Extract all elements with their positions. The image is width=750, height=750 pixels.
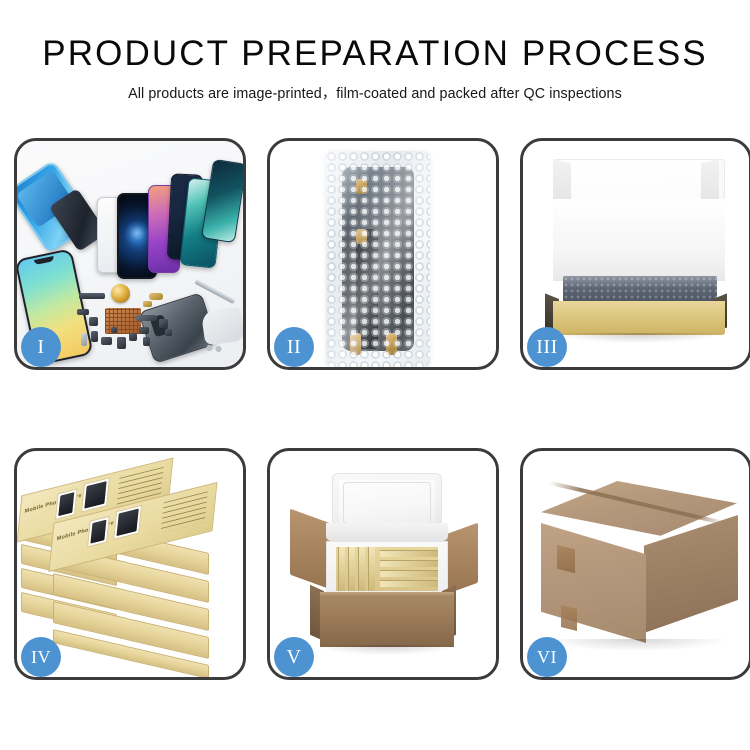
foam-face bbox=[553, 199, 725, 281]
box-window-screen bbox=[90, 520, 106, 544]
step-badge-3: III bbox=[527, 327, 567, 367]
chip-part bbox=[143, 337, 150, 346]
step-badge-6: VI bbox=[527, 637, 567, 677]
chip-part bbox=[129, 333, 137, 341]
header: PRODUCT PREPARATION PROCESS All products… bbox=[0, 0, 750, 103]
process-step-5[interactable]: V bbox=[267, 448, 499, 680]
ribbon-bar-part bbox=[79, 293, 105, 299]
page-title: PRODUCT PREPARATION PROCESS bbox=[0, 36, 750, 73]
process-step-2[interactable]: II bbox=[267, 138, 499, 370]
box-window-screen bbox=[58, 492, 74, 516]
gold-connector bbox=[386, 333, 397, 355]
packed-box-slat bbox=[348, 547, 355, 591]
chip-part bbox=[135, 315, 157, 321]
chip-part bbox=[81, 333, 87, 346]
packed-box-slat bbox=[380, 550, 438, 557]
chip-part bbox=[91, 331, 98, 342]
chip-part bbox=[159, 319, 168, 328]
styrofoam-lid-skirt bbox=[326, 523, 448, 541]
process-step-6[interactable]: VI bbox=[520, 448, 750, 680]
carton-body-front bbox=[320, 595, 454, 647]
packed-boxes bbox=[336, 547, 438, 591]
carton-rim bbox=[320, 592, 454, 597]
chip-part bbox=[165, 329, 172, 336]
page-subtitle: All products are image-printed，film-coat… bbox=[0, 82, 750, 103]
packed-box-slat bbox=[380, 570, 438, 577]
packed-box-slat bbox=[358, 547, 365, 591]
process-step-4[interactable]: Mobile Phone Spare Parts Mobile Phone Sp… bbox=[14, 448, 246, 680]
hand-holding-tool bbox=[201, 306, 243, 345]
process-step-grid: I II bbox=[14, 138, 736, 680]
process-step-3[interactable]: III bbox=[520, 138, 750, 370]
bubble-wrap-bag bbox=[326, 151, 430, 367]
wrapped-display-assembly bbox=[342, 167, 414, 351]
carton-tape-mark bbox=[557, 545, 575, 573]
drop-shadow bbox=[318, 645, 456, 655]
box-window-screen bbox=[84, 481, 106, 509]
box-window bbox=[87, 516, 110, 548]
teal-edge-phone bbox=[201, 159, 243, 243]
box-window-screen bbox=[116, 509, 138, 537]
drop-shadow bbox=[547, 639, 727, 651]
step-badge-2: II bbox=[274, 327, 314, 367]
step-badge-4: IV bbox=[21, 637, 61, 677]
process-step-1[interactable]: I bbox=[14, 138, 246, 370]
chip-part bbox=[101, 337, 112, 345]
gold-connector bbox=[356, 179, 367, 194]
speaker-coil-part bbox=[111, 284, 130, 303]
box-window bbox=[55, 488, 78, 520]
gold-connector bbox=[356, 229, 367, 244]
step-badge-1: I bbox=[21, 327, 61, 367]
step-badge-5: V bbox=[274, 637, 314, 677]
chip-part bbox=[149, 293, 163, 300]
box-window bbox=[113, 505, 142, 540]
drop-shadow bbox=[557, 333, 721, 343]
carton-tape-mark bbox=[561, 605, 577, 631]
packed-box-slat bbox=[380, 560, 438, 567]
kraft-box-front bbox=[553, 301, 725, 335]
chip-part bbox=[111, 327, 117, 333]
packed-box-slat bbox=[368, 547, 375, 591]
chip-part bbox=[143, 301, 152, 307]
box-window bbox=[81, 477, 110, 512]
gold-connector bbox=[350, 333, 361, 355]
chip-part bbox=[77, 309, 89, 315]
chip-part bbox=[117, 337, 126, 349]
chip-part bbox=[89, 317, 98, 326]
screws-part bbox=[205, 343, 227, 353]
chip-part bbox=[139, 327, 149, 334]
packed-box-slat bbox=[380, 580, 438, 587]
packed-box-slat bbox=[338, 547, 345, 591]
flex-cable bbox=[356, 229, 378, 349]
carton-front-face bbox=[541, 523, 646, 643]
infographic-page: PRODUCT PREPARATION PROCESS All products… bbox=[0, 0, 750, 750]
box-spec-lines bbox=[161, 491, 208, 533]
